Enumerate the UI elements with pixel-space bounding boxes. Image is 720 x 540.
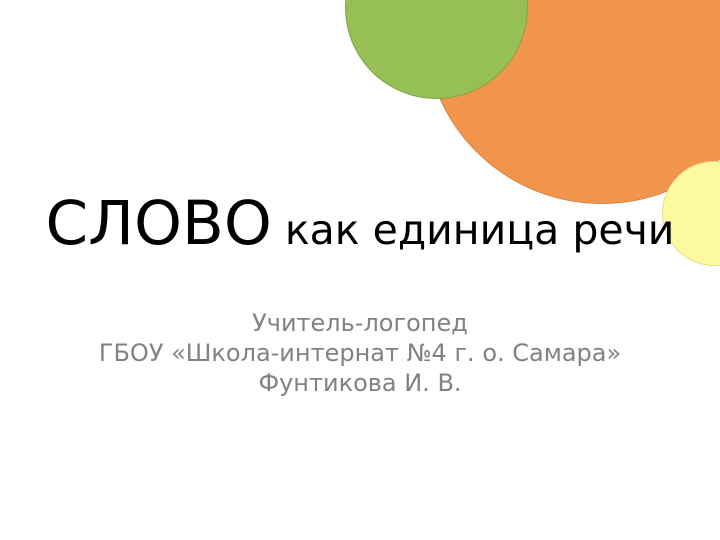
- title-remainder: как единица речи: [272, 206, 675, 254]
- subtitle-line-author: Фунтикова И. В.: [0, 368, 720, 398]
- slide-content: СЛОВО как единица речи Учитель-логопед Г…: [0, 0, 720, 540]
- title-emphasis-word: СЛОВО: [46, 188, 272, 259]
- slide-title: СЛОВО как единица речи: [0, 192, 720, 256]
- slide-subtitle: Учитель-логопед ГБОУ «Школа-интернат №4 …: [0, 308, 720, 398]
- subtitle-line-role: Учитель-логопед: [0, 308, 720, 338]
- subtitle-line-institution: ГБОУ «Школа-интернат №4 г. о. Самара»: [0, 338, 720, 368]
- title-slide: СЛОВО как единица речи Учитель-логопед Г…: [0, 0, 720, 540]
